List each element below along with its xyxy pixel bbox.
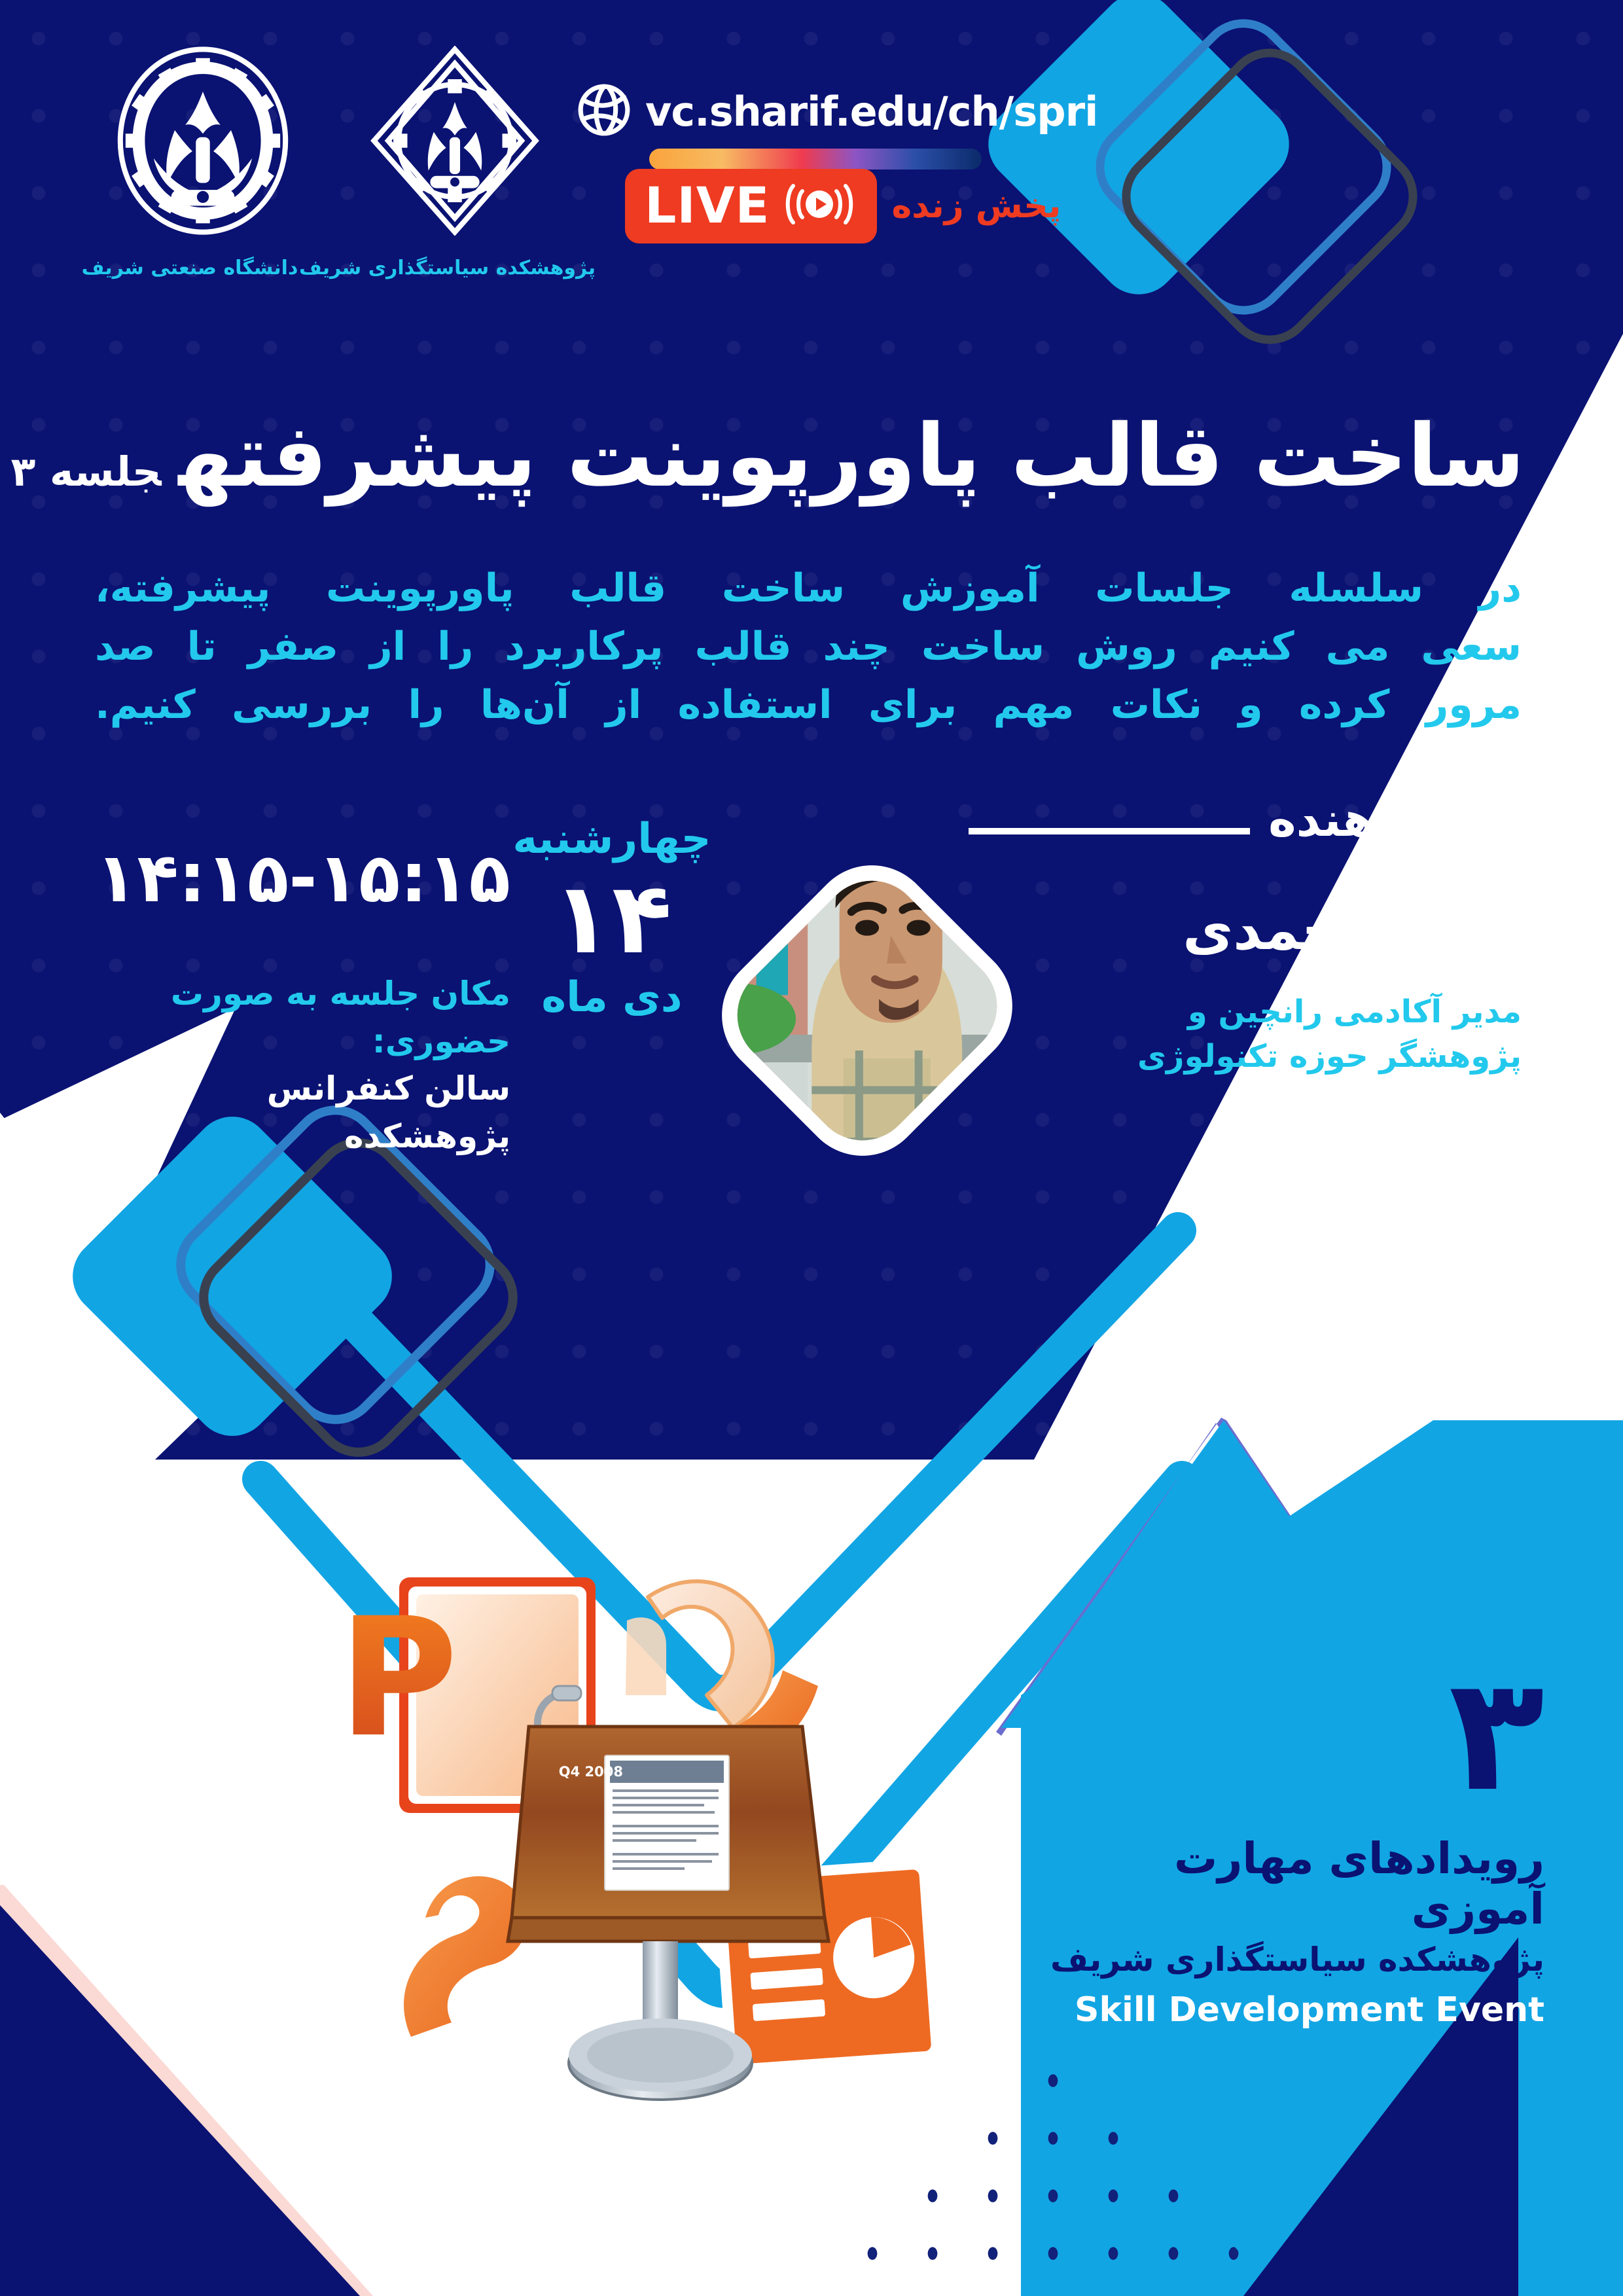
presenter-name: محمد احمدی <box>1011 898 1522 962</box>
description-line-3: مرور کرده و نکات مهم برای استفاده از آن‌… <box>95 676 1522 734</box>
powerpoint-letter-p: P <box>340 1583 458 1773</box>
poster-description: در سلسله جلسات آموزش ساخت قالب پاورپوینت… <box>95 560 1522 734</box>
badge-en-title: Skill Development Event <box>1047 1990 1544 2030</box>
event-date-block: چهارشنبه ۱۴ دی ماه <box>504 815 720 1022</box>
live-persian-text: پخش زنده <box>891 189 1061 223</box>
broadcast-url-block[interactable]: vc.sharif.edu/ch/spri <box>576 82 982 170</box>
broadcast-play-icon <box>784 178 855 233</box>
live-badge[interactable]: LIVE <box>625 169 877 243</box>
presenter-photo-frame <box>749 886 985 1135</box>
event-weekday: چهارشنبه <box>504 815 720 863</box>
presenter-photo <box>716 859 1018 1161</box>
event-poster: دانشگاه صنعتی شریف <box>0 0 1623 2296</box>
presenter-section: ارائه دهنده محمد احمدی مدیر آکادمی رانچی… <box>749 792 1522 1135</box>
badge-fa-subtitle: پژوهشکده سیاستگذاری شریف <box>1047 1941 1544 1979</box>
description-line-2: سعی می کنیم روش ساخت چند قالب پرکاربرد ر… <box>95 618 1522 676</box>
presenter-role-line-2: پژوهشگر حوزه تکنولوژی <box>1011 1034 1522 1079</box>
broadcast-url-text[interactable]: vc.sharif.edu/ch/spri <box>645 88 1097 135</box>
presenter-heading-rule <box>969 828 1250 834</box>
badge-fa-title: رویدادهای مهارت آموزی <box>1047 1833 1544 1934</box>
event-location-value: سالن کنفرانس پژوهشکده <box>92 1065 510 1160</box>
presenter-text-block: محمد احمدی مدیر آکادمی رانچین و پژوهشگر … <box>1011 886 1522 1079</box>
powerpoint-lectern-illustration: P <box>340 1499 1034 2114</box>
description-line-1: در سلسله جلسات آموزش ساخت قالب پاورپوینت… <box>95 560 1522 618</box>
title-text: ساخت قالب پاورپوینت پیشرفته <box>179 406 1525 507</box>
poster-header: دانشگاه صنعتی شریف <box>0 0 1623 308</box>
spri-logo <box>366 46 543 236</box>
session-number-label: جلسه ۳ <box>10 448 161 495</box>
live-persian-label: پخش زنده <box>891 189 1061 223</box>
lectern-slide-label: Q4 2008 <box>559 1764 623 1780</box>
sharif-university-caption: دانشگاه صنعتی شریف <box>79 257 301 279</box>
event-time-block: ۱۴:۱۵-۱۵:۱۵ مکان جلسه به صورت حضوری: سال… <box>92 838 510 1160</box>
badge-session-number: ۳ <box>1047 1662 1544 1807</box>
sharif-university-logo <box>115 46 291 236</box>
poster-title-block: ساخت قالب پاورپوینت پیشرفتهجلسه ۳ <box>85 406 1525 508</box>
event-day-number: ۱۴ <box>504 866 720 972</box>
avatar <box>716 859 1018 1161</box>
skill-event-badge-text: ۳ رویدادهای مهارت آموزی پژوهشکده سیاستگذ… <box>1047 1662 1544 2030</box>
globe-icon <box>576 82 632 141</box>
event-time: ۱۴:۱۵-۱۵:۱۵ <box>92 838 510 918</box>
url-gradient-bar <box>649 149 982 170</box>
event-location-label: مکان جلسه به صورت حضوری: <box>92 970 510 1065</box>
event-month: دی ماه <box>504 973 720 1022</box>
poster-title: ساخت قالب پاورپوینت پیشرفتهجلسه ۳ <box>85 406 1525 508</box>
presenter-heading-row: ارائه دهنده <box>749 792 1522 847</box>
live-badge-label: LIVE <box>645 183 770 228</box>
live-broadcast-row: LIVE پخش زنده <box>625 169 1061 243</box>
spri-caption: پژوهشکده سیاستگذاری شریف <box>301 257 596 279</box>
presenter-body: محمد احمدی مدیر آکادمی رانچین و پژوهشگر … <box>749 886 1522 1135</box>
presenter-heading: ارائه دهنده <box>1268 792 1522 847</box>
presenter-role: مدیر آکادمی رانچین و پژوهشگر حوزه تکنولو… <box>1011 990 1522 1079</box>
presenter-role-line-1: مدیر آکادمی رانچین و <box>1011 990 1522 1034</box>
